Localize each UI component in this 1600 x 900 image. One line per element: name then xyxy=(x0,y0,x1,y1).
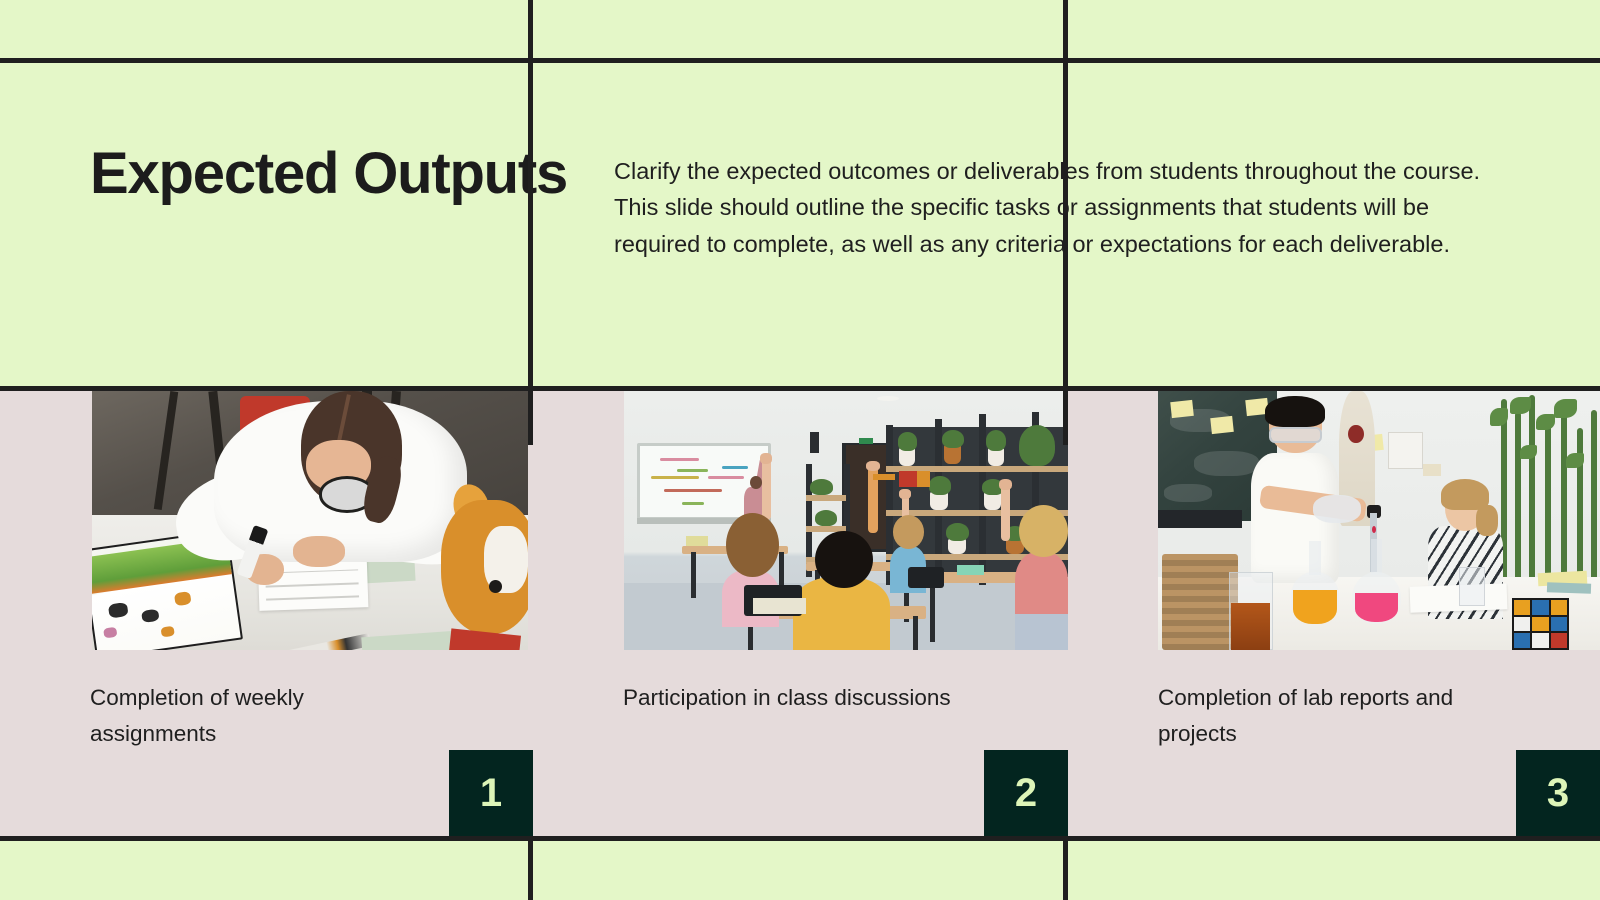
slide-description: Clarify the expected outcomes or deliver… xyxy=(614,153,1494,262)
slide-canvas: Expected Outputs Clarify the expected ou… xyxy=(0,0,1600,900)
slide-header: Expected Outputs Clarify the expected ou… xyxy=(0,63,1600,386)
card-caption: Completion of lab reports and projects xyxy=(1158,680,1458,753)
cards-row: Completion of weekly assignments 1 xyxy=(0,391,1600,836)
card-item[interactable]: Completion of lab reports and projects 3 xyxy=(1068,391,1600,836)
footer-divider-2 xyxy=(1063,836,1068,900)
card-image-1 xyxy=(92,391,528,650)
card-number-badge: 1 xyxy=(449,750,533,836)
card-caption: Completion of weekly assignments xyxy=(90,680,420,753)
divider-bottom xyxy=(0,836,1600,841)
card-image-3 xyxy=(1158,391,1600,650)
card-divider-1 xyxy=(528,0,533,445)
footer-divider-1 xyxy=(528,836,533,900)
card-item[interactable]: Completion of weekly assignments 1 xyxy=(0,391,533,836)
card-caption: Participation in class discussions xyxy=(623,680,953,716)
card-item[interactable]: Participation in class discussions 2 xyxy=(533,391,1068,836)
page-title: Expected Outputs xyxy=(90,141,570,207)
card-number-badge: 2 xyxy=(984,750,1068,836)
card-divider-2 xyxy=(1063,0,1068,445)
card-number-badge: 3 xyxy=(1516,750,1600,836)
card-image-2 xyxy=(624,391,1068,650)
rubiks-cube-icon xyxy=(1512,598,1569,650)
